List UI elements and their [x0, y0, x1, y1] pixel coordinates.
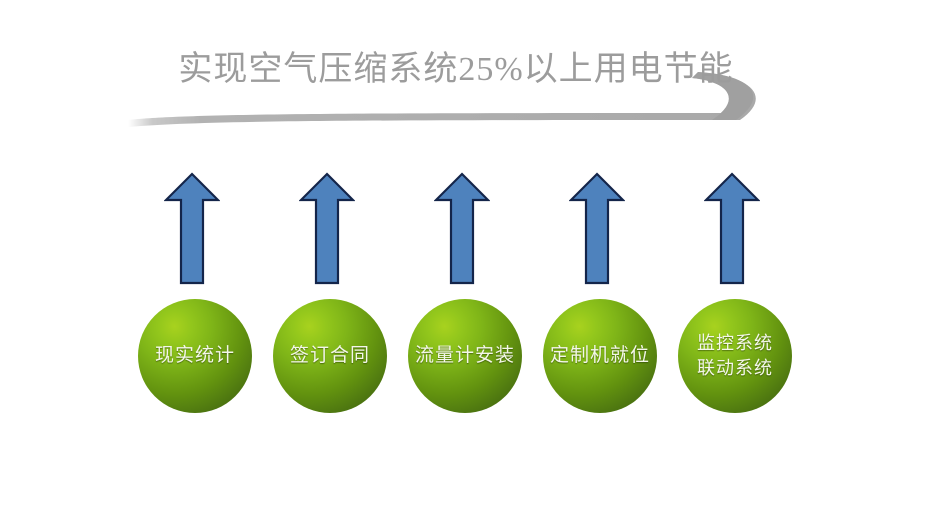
up-arrow-1 — [164, 172, 220, 286]
step-circle-2[interactable]: 签订合同 — [273, 299, 387, 413]
step-circle-5[interactable]: 监控系统 联动系统 — [678, 299, 792, 413]
step-label-2: 签订合同 — [286, 344, 374, 368]
step-label-3: 流量计安装 — [411, 344, 519, 368]
page-title: 实现空气压缩系统25%以上用电节能 — [156, 46, 756, 94]
step-circle-1[interactable]: 现实统计 — [138, 299, 252, 413]
step-circle-3[interactable]: 流量计安装 — [408, 299, 522, 413]
up-arrow-2 — [299, 172, 355, 286]
step-circle-4[interactable]: 定制机就位 — [543, 299, 657, 413]
step-label-1: 现实统计 — [151, 344, 239, 368]
title-banner: 实现空气压缩系统25%以上用电节能 — [126, 38, 782, 128]
up-arrow-5 — [704, 172, 760, 286]
step-label-4: 定制机就位 — [546, 344, 654, 368]
slide-canvas: 实现空气压缩系统25%以上用电节能 现实统计 签订合同 — [0, 0, 945, 529]
up-arrow-4 — [569, 172, 625, 286]
up-arrow-3 — [434, 172, 490, 286]
step-label-5: 监控系统 联动系统 — [693, 331, 777, 381]
